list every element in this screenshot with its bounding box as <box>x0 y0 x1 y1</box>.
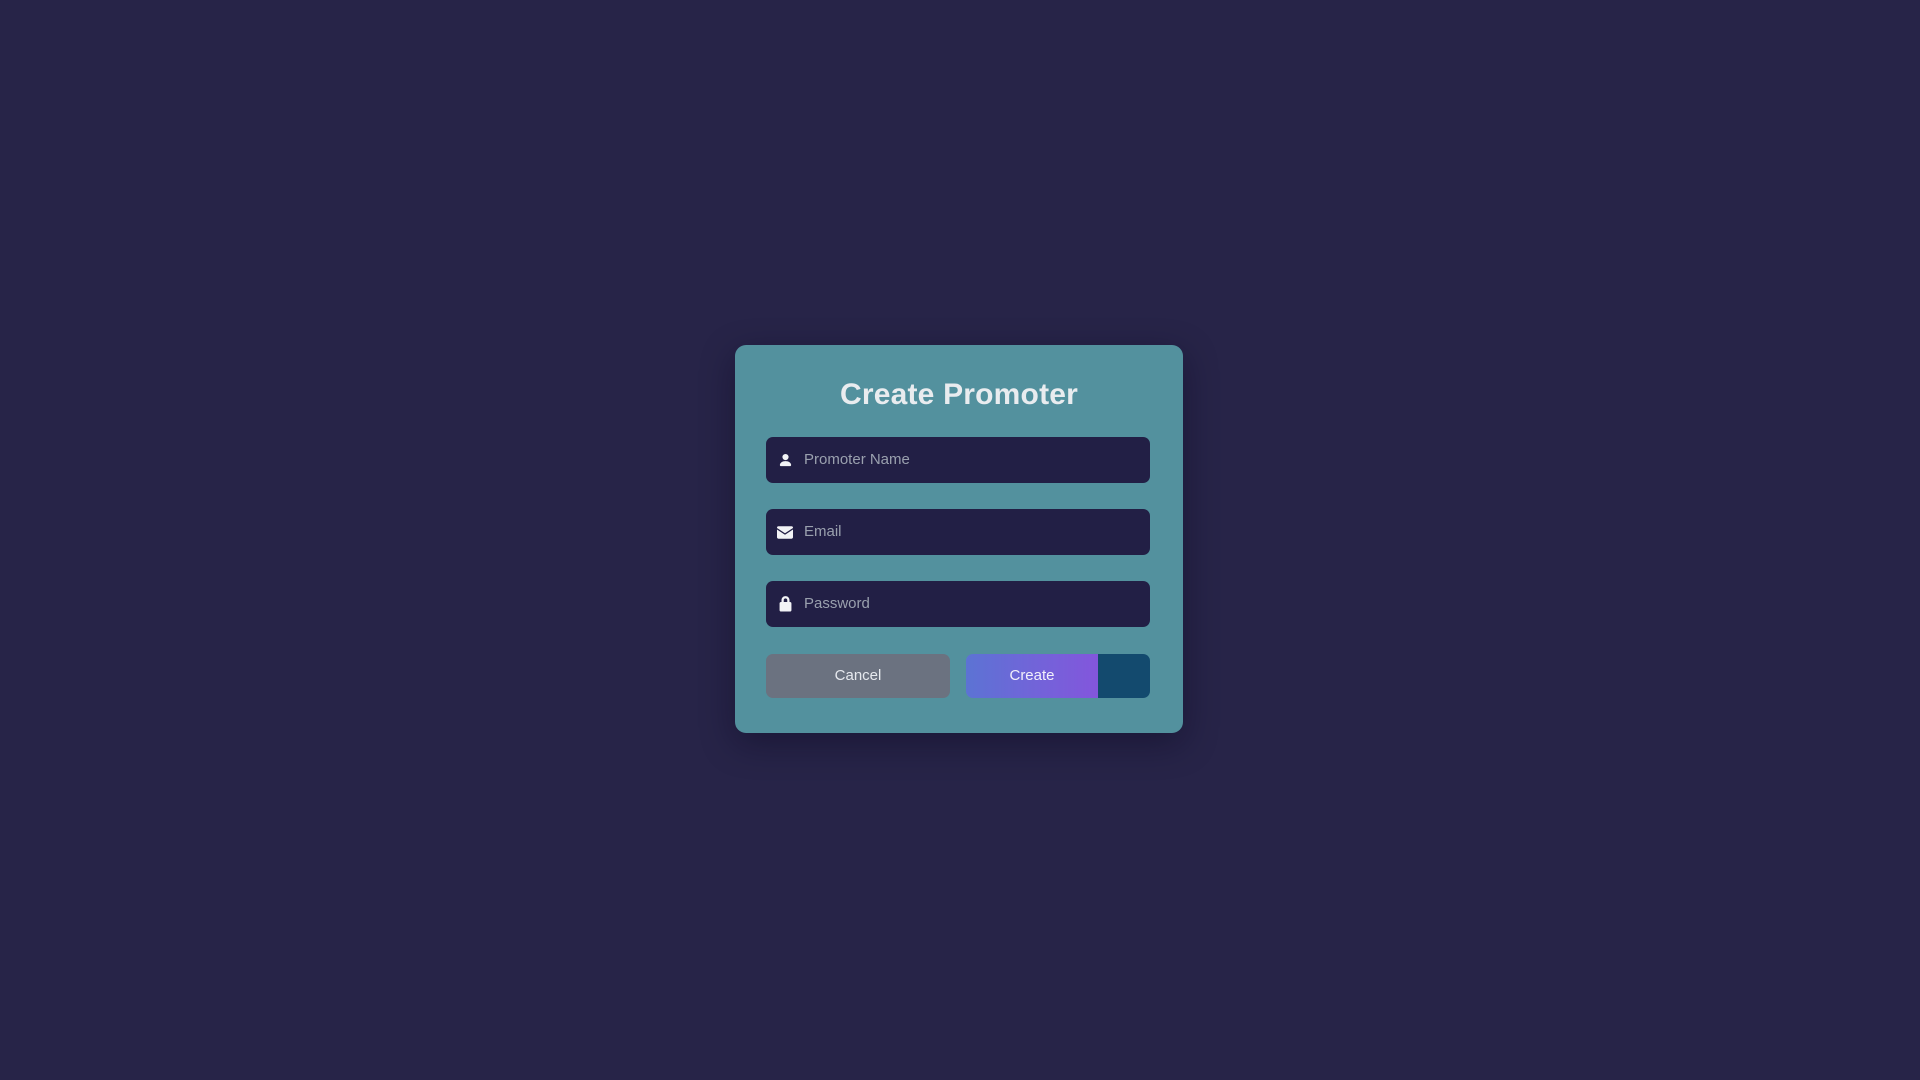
password-input[interactable] <box>804 581 1150 627</box>
create-promoter-modal: Create Promoter <box>735 345 1183 733</box>
email-input[interactable] <box>804 509 1150 555</box>
promoter-name-field-row[interactable] <box>766 437 1150 483</box>
password-field-row[interactable] <box>766 581 1150 627</box>
create-button[interactable]: Create <box>966 654 1098 698</box>
modal-action-bar: Cancel Create <box>766 654 1150 698</box>
form-fields <box>766 437 1152 627</box>
email-field-row[interactable] <box>766 509 1150 555</box>
lock-icon <box>766 581 804 627</box>
create-button-trailing-panel <box>1098 654 1150 698</box>
envelope-icon <box>766 509 804 555</box>
user-icon <box>766 437 804 483</box>
page-title: Create Promoter <box>766 345 1152 410</box>
promoter-name-input[interactable] <box>804 437 1150 483</box>
create-button-group: Create <box>966 654 1150 698</box>
page-root: Create Promoter <box>0 0 1920 1080</box>
cancel-button[interactable]: Cancel <box>766 654 950 698</box>
